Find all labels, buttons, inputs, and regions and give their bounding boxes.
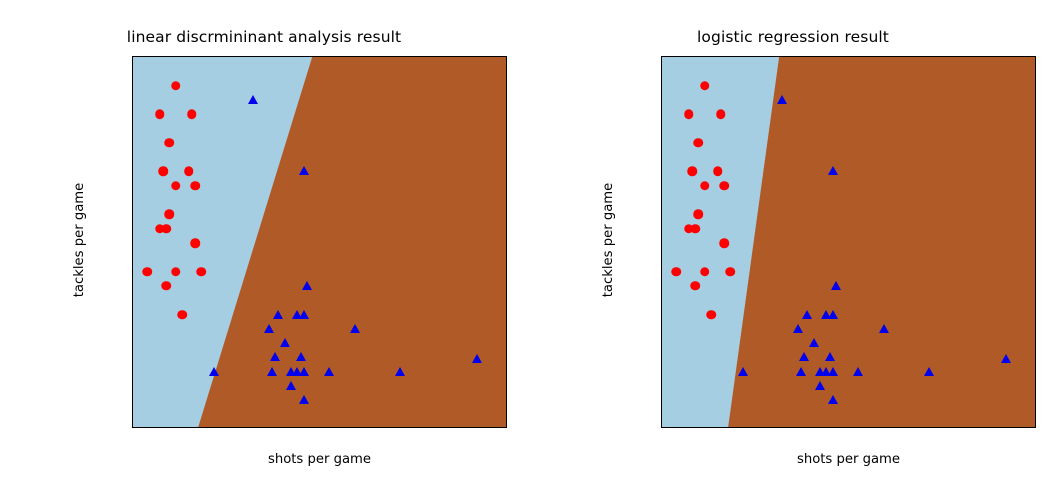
y-tick-mark: [132, 142, 133, 143]
marker-glyph: [694, 210, 704, 220]
marker-glyph: [694, 138, 704, 148]
data-point-triangle: [472, 354, 482, 363]
marker-glyph: [853, 367, 863, 376]
data-point-triangle: [395, 367, 405, 376]
marker-glyph: [171, 267, 181, 277]
marker-glyph: [299, 310, 309, 319]
marker-glyph: [828, 395, 838, 404]
marker-glyph: [828, 167, 838, 176]
data-point-circle: [694, 210, 704, 220]
marker-glyph: [831, 281, 841, 290]
data-point-circle: [187, 109, 197, 119]
marker-glyph: [162, 281, 172, 291]
marker-glyph: [671, 267, 681, 277]
marker-glyph: [350, 324, 360, 333]
marker-glyph: [155, 109, 165, 119]
marker-glyph: [324, 367, 334, 376]
data-point-triangle: [828, 310, 838, 319]
x-axis-label-lda: shots per game: [132, 452, 507, 467]
data-point-triangle: [209, 367, 219, 376]
x-tick-mark: [928, 427, 929, 428]
marker-glyph: [158, 167, 168, 177]
marker-glyph: [719, 238, 729, 248]
panel-lda-title: linear discrmininant analysis result: [0, 28, 528, 46]
data-point-triangle: [802, 310, 812, 319]
marker-glyph: [700, 81, 710, 91]
marker-glyph: [270, 353, 280, 362]
data-point-triangle: [1001, 354, 1011, 363]
marker-glyph: [691, 281, 701, 291]
marker-glyph: [165, 138, 175, 148]
x-tick-mark: [271, 427, 272, 428]
data-point-circle: [684, 109, 694, 119]
x-tick-mark: [864, 427, 865, 428]
data-point-triangle: [924, 367, 934, 376]
data-point-triangle: [825, 353, 835, 362]
data-point-triangle: [879, 324, 889, 333]
x-tick-mark: [463, 427, 464, 428]
marker-glyph: [815, 381, 825, 390]
data-point-circle: [162, 281, 172, 291]
figure-canvas: linear discrmininant analysis result tac…: [0, 0, 1057, 480]
data-point-circle: [671, 267, 681, 277]
data-point-circle: [142, 267, 152, 277]
data-point-circle: [719, 238, 729, 248]
data-point-circle: [726, 267, 736, 277]
marker-glyph: [825, 353, 835, 362]
marker-glyph: [302, 281, 312, 290]
data-point-circle: [700, 181, 710, 191]
data-point-triangle: [831, 281, 841, 290]
data-point-circle: [700, 81, 710, 91]
marker-glyph: [248, 95, 258, 104]
data-point-triangle: [853, 367, 863, 376]
data-point-triangle: [350, 324, 360, 333]
data-point-triangle: [738, 367, 748, 376]
data-point-circle: [155, 109, 165, 119]
data-point-triangle: [828, 167, 838, 176]
marker-glyph: [472, 354, 482, 363]
data-point-circle: [190, 181, 200, 191]
data-point-circle: [694, 138, 704, 148]
data-point-circle: [197, 267, 207, 277]
x-axis-label-logistic: shots per game: [661, 452, 1036, 467]
marker-glyph: [187, 109, 197, 119]
marker-glyph: [299, 367, 309, 376]
data-point-triangle: [267, 367, 277, 376]
data-point-triangle: [270, 353, 280, 362]
x-tick-mark: [736, 427, 737, 428]
data-point-triangle: [777, 95, 787, 104]
marker-glyph: [165, 210, 175, 220]
x-tick-mark: [143, 427, 144, 428]
marker-glyph: [924, 367, 934, 376]
x-tick-mark: [992, 427, 993, 428]
data-point-triangle: [273, 310, 283, 319]
data-point-circle: [171, 81, 181, 91]
marker-glyph: [280, 338, 290, 347]
y-tick-mark: [661, 214, 662, 215]
x-tick-mark: [335, 427, 336, 428]
data-point-triangle: [264, 324, 274, 333]
data-point-triangle: [796, 367, 806, 376]
data-point-triangle: [302, 281, 312, 290]
y-tick-mark: [661, 71, 662, 72]
marker-glyph: [299, 395, 309, 404]
y-axis-label-lda: tackles per game: [72, 183, 87, 298]
data-point-circle: [158, 167, 168, 177]
x-tick-mark: [399, 427, 400, 428]
marker-glyph: [142, 267, 152, 277]
data-point-circle: [713, 167, 723, 177]
marker-glyph: [395, 367, 405, 376]
marker-glyph: [713, 167, 723, 177]
data-point-triangle: [809, 338, 819, 347]
marker-glyph: [719, 181, 729, 191]
plot-area-logistic: 0123450.00.51.01.52.02.5: [661, 56, 1036, 428]
panel-lda: linear discrmininant analysis result tac…: [0, 0, 528, 480]
marker-glyph: [178, 310, 188, 320]
data-point-triangle: [299, 167, 309, 176]
data-point-triangle: [286, 381, 296, 390]
y-tick-mark: [661, 285, 662, 286]
data-point-triangle: [299, 367, 309, 376]
data-point-circle: [165, 138, 175, 148]
marker-glyph: [296, 353, 306, 362]
x-tick-mark: [672, 427, 673, 428]
data-point-circle: [700, 267, 710, 277]
marker-glyph: [267, 367, 277, 376]
data-point-triangle: [324, 367, 334, 376]
data-point-circle: [171, 181, 181, 191]
marker-glyph: [777, 95, 787, 104]
marker-glyph: [684, 109, 694, 119]
data-point-circle: [707, 310, 717, 320]
marker-glyph: [700, 267, 710, 277]
data-point-circle: [184, 167, 194, 177]
data-point-triangle: [280, 338, 290, 347]
data-point-triangle: [799, 353, 809, 362]
marker-glyph: [299, 167, 309, 176]
marker-glyph: [828, 310, 838, 319]
marker-glyph: [738, 367, 748, 376]
marker-glyph: [828, 367, 838, 376]
y-tick-mark: [132, 357, 133, 358]
marker-glyph: [171, 181, 181, 191]
marker-glyph: [809, 338, 819, 347]
y-tick-mark: [661, 357, 662, 358]
panel-logistic-title: logistic regression result: [529, 28, 1057, 46]
marker-glyph: [209, 367, 219, 376]
marker-glyph: [184, 167, 194, 177]
y-axis-label-logistic: tackles per game: [601, 183, 616, 298]
marker-glyph: [190, 181, 200, 191]
data-point-triangle: [299, 310, 309, 319]
data-point-circle: [716, 109, 726, 119]
marker-glyph: [1001, 354, 1011, 363]
marker-glyph: [716, 109, 726, 119]
data-point-triangle: [299, 395, 309, 404]
data-point-triangle: [296, 353, 306, 362]
marker-glyph: [793, 324, 803, 333]
marker-glyph: [171, 81, 181, 91]
y-tick-mark: [661, 142, 662, 143]
y-tick-mark: [132, 214, 133, 215]
data-point-triangle: [828, 367, 838, 376]
marker-glyph: [796, 367, 806, 376]
panel-logistic: logistic regression result tackles per g…: [529, 0, 1057, 480]
data-point-circle: [171, 267, 181, 277]
data-point-triangle: [793, 324, 803, 333]
data-point-circle: [719, 181, 729, 191]
x-tick-mark: [207, 427, 208, 428]
marker-glyph: [190, 238, 200, 248]
data-point-triangle: [815, 381, 825, 390]
marker-glyph: [691, 224, 701, 234]
y-tick-mark: [132, 285, 133, 286]
marker-glyph: [700, 181, 710, 191]
x-tick-mark: [800, 427, 801, 428]
marker-glyph: [799, 353, 809, 362]
data-point-triangle: [828, 395, 838, 404]
data-point-circle: [687, 167, 697, 177]
marker-glyph: [273, 310, 283, 319]
marker-glyph: [286, 381, 296, 390]
marker-glyph: [726, 267, 736, 277]
data-point-circle: [165, 210, 175, 220]
marker-glyph: [879, 324, 889, 333]
marker-glyph: [197, 267, 207, 277]
marker-glyph: [687, 167, 697, 177]
marker-glyph: [707, 310, 717, 320]
data-point-circle: [691, 281, 701, 291]
data-point-triangle: [248, 95, 258, 104]
marker-glyph: [162, 224, 172, 234]
data-point-circle: [178, 310, 188, 320]
marker-glyph: [802, 310, 812, 319]
marker-glyph: [264, 324, 274, 333]
y-tick-mark: [132, 71, 133, 72]
data-point-circle: [190, 238, 200, 248]
data-point-circle: [162, 224, 172, 234]
plot-area-lda: 0123450.00.51.01.52.02.5: [132, 56, 507, 428]
data-point-circle: [691, 224, 701, 234]
